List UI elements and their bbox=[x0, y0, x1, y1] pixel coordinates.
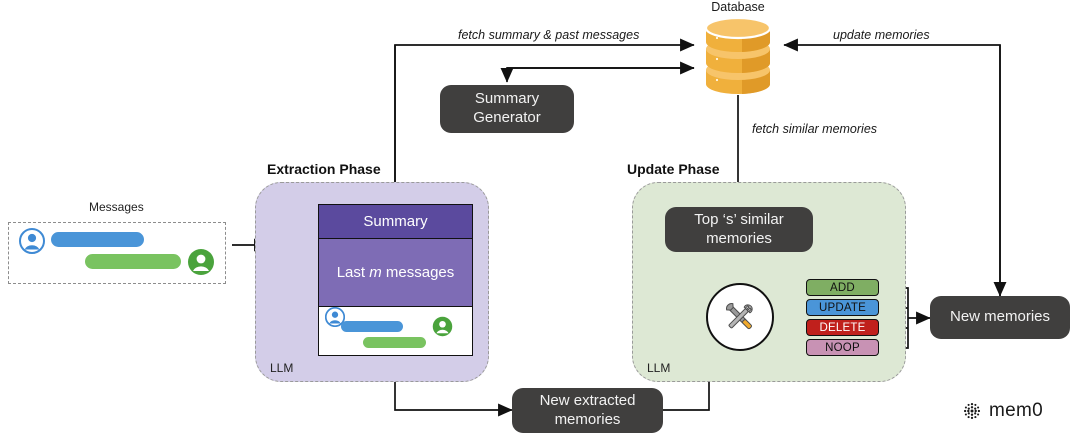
user-avatar-icon bbox=[19, 228, 45, 254]
new-extracted-line1: New extracted bbox=[540, 392, 636, 409]
connector-lines bbox=[0, 0, 1080, 435]
stack-last-var: m bbox=[369, 264, 382, 281]
new-memories-label: New memories bbox=[950, 308, 1050, 327]
mem0-dotted-sphere-logo-icon bbox=[962, 401, 982, 421]
new-memories-box[interactable]: New memories bbox=[930, 296, 1070, 339]
top-similar-memories-box[interactable]: Top ‘s’ similar memories bbox=[665, 207, 813, 252]
diagram-canvas: fetch summary & past messages update mem… bbox=[0, 0, 1080, 435]
update-phase-title: Update Phase bbox=[627, 161, 720, 177]
message-bubble-user bbox=[51, 232, 144, 247]
database-cylinder-icon bbox=[702, 18, 774, 96]
update-llm-tag: LLM bbox=[647, 361, 670, 375]
action-chip-delete[interactable]: DELETE bbox=[806, 319, 879, 336]
new-extracted-line2: memories bbox=[555, 411, 621, 428]
tools-wrench-screwdriver-icon bbox=[720, 297, 760, 337]
stack-bubble-user bbox=[341, 321, 403, 332]
brand-logo: mem0 bbox=[962, 400, 1043, 422]
summary-generator-line1: Summary bbox=[475, 90, 539, 107]
summary-generator-line2: Generator bbox=[473, 109, 541, 126]
stack-last-suffix: messages bbox=[382, 264, 455, 281]
action-chip-noop[interactable]: NOOP bbox=[806, 339, 879, 356]
assistant-avatar-icon bbox=[187, 248, 215, 276]
new-extracted-memories-box[interactable]: New extracted memories bbox=[512, 388, 663, 433]
context-stack-panel: Summary Last m messages bbox=[318, 204, 473, 356]
action-chip-update[interactable]: UPDATE bbox=[806, 299, 879, 316]
stack-last-messages-row: Last m messages bbox=[319, 239, 472, 307]
stack-last-prefix: Last bbox=[337, 264, 370, 281]
database-node: Database bbox=[702, 18, 774, 96]
message-bubble-assistant bbox=[85, 254, 181, 269]
edge-label-fetch-similar: fetch similar memories bbox=[752, 122, 877, 136]
edge-label-update-memories: update memories bbox=[833, 28, 930, 42]
stack-bubble-assistant bbox=[363, 337, 426, 348]
database-caption: Database bbox=[711, 0, 765, 14]
extraction-phase-title: Extraction Phase bbox=[267, 161, 381, 177]
extraction-llm-tag: LLM bbox=[270, 361, 293, 375]
messages-box bbox=[8, 222, 226, 284]
summary-generator-box[interactable]: Summary Generator bbox=[440, 85, 574, 133]
action-chip-add[interactable]: ADD bbox=[806, 279, 879, 296]
stack-chat-row bbox=[319, 307, 472, 355]
stack-assistant-avatar-icon bbox=[432, 316, 453, 337]
edge-label-fetch-summary: fetch summary & past messages bbox=[458, 28, 639, 42]
brand-name: mem0 bbox=[989, 400, 1043, 422]
tool-call-node[interactable] bbox=[706, 283, 774, 351]
stack-summary-row: Summary bbox=[319, 205, 472, 239]
top-similar-line2: memories bbox=[706, 230, 772, 247]
edge-db-to-summary-generator bbox=[507, 68, 694, 82]
top-similar-line1: Top ‘s’ similar bbox=[694, 211, 783, 228]
